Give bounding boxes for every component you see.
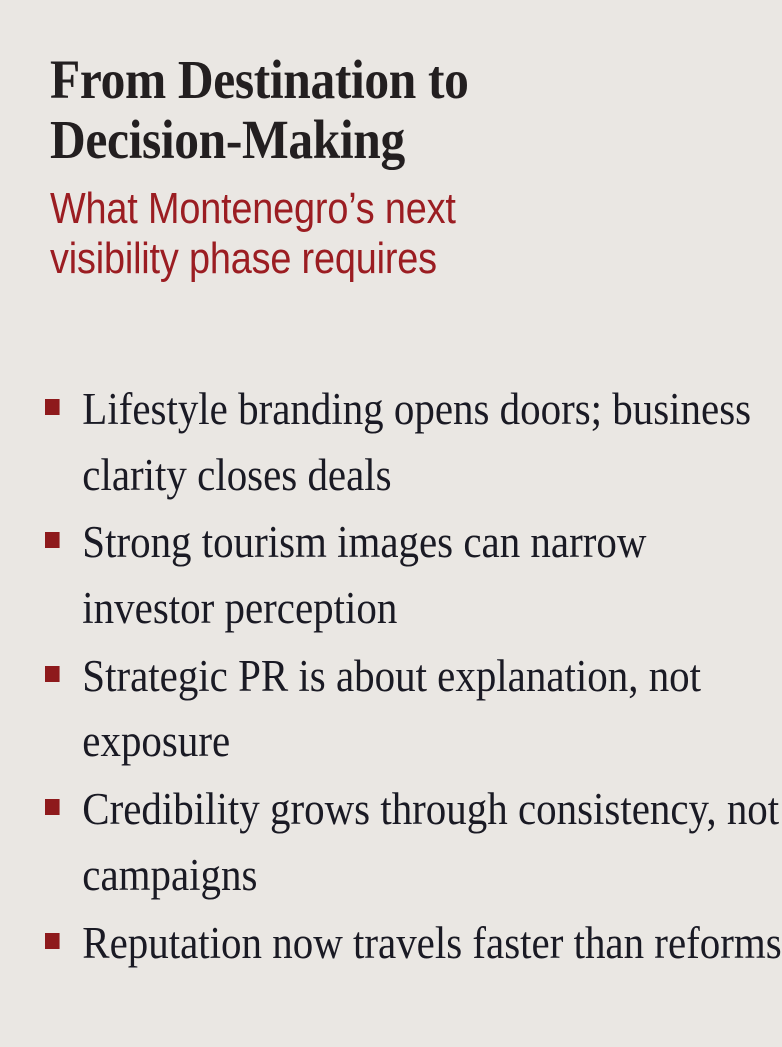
list-item-label: Lifestyle branding opens doors; business… <box>82 377 782 508</box>
list-item: Reputation now travels faster than refor… <box>45 911 782 977</box>
list-item-label: Strong tourism images can narrow investo… <box>82 510 782 641</box>
page-subtitle: What Montenegro’s next visibility phase … <box>50 184 734 285</box>
list-item-label: Credibility grows through consistency, n… <box>82 777 782 908</box>
list-item-label: Reputation now travels faster than refor… <box>82 911 782 977</box>
list-item: Credibility grows through consistency, n… <box>45 777 782 908</box>
list-item-label: Strategic PR is about explanation, not e… <box>82 644 782 775</box>
key-points-list: Lifestyle branding opens doors; business… <box>45 377 752 978</box>
square-bullet-icon <box>45 532 60 548</box>
list-item: Lifestyle branding opens doors; business… <box>45 377 782 508</box>
list-item: Strategic PR is about explanation, not e… <box>45 644 782 775</box>
page-title: From Destination to Decision-Making <box>50 50 735 170</box>
list-item: Strong tourism images can narrow investo… <box>45 510 782 641</box>
square-bullet-icon <box>45 399 60 415</box>
square-bullet-icon <box>45 666 60 682</box>
square-bullet-icon <box>45 799 60 815</box>
infographic-card: From Destination to Decision-Making What… <box>0 0 782 1047</box>
square-bullet-icon <box>45 933 60 949</box>
